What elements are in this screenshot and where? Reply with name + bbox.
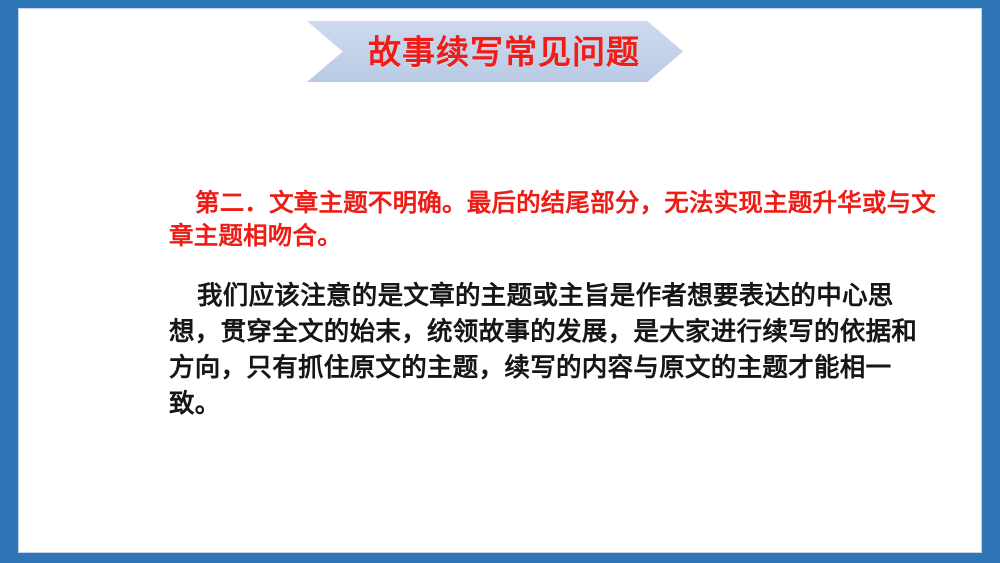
- content-area: 第二．文章主题不明确。最后的结尾部分，无法实现主题升华或与文章主题相吻合。 我们…: [169, 161, 969, 448]
- slide-border-bottom: [0, 553, 1000, 563]
- slide-border-right: [982, 0, 1000, 563]
- slide-title: 故事续写常见问题: [307, 35, 683, 68]
- title-banner: 故事续写常见问题: [307, 21, 683, 82]
- slide-border-top: [0, 0, 1000, 8]
- slide-canvas: 故事续写常见问题 第二．文章主题不明确。最后的结尾部分，无法实现主题升华或与文章…: [18, 8, 982, 553]
- main-paragraph: 我们应该注意的是文章的主题或主旨是作者想要表达的中心思想，贯穿全文的始末，统领故…: [169, 278, 939, 423]
- slide-root: 故事续写常见问题 第二．文章主题不明确。最后的结尾部分，无法实现主题升华或与文章…: [0, 0, 1000, 563]
- highlight-paragraph: 第二．文章主题不明确。最后的结尾部分，无法实现主题升华或与文章主题相吻合。: [169, 186, 941, 254]
- slide-border-left: [0, 0, 18, 563]
